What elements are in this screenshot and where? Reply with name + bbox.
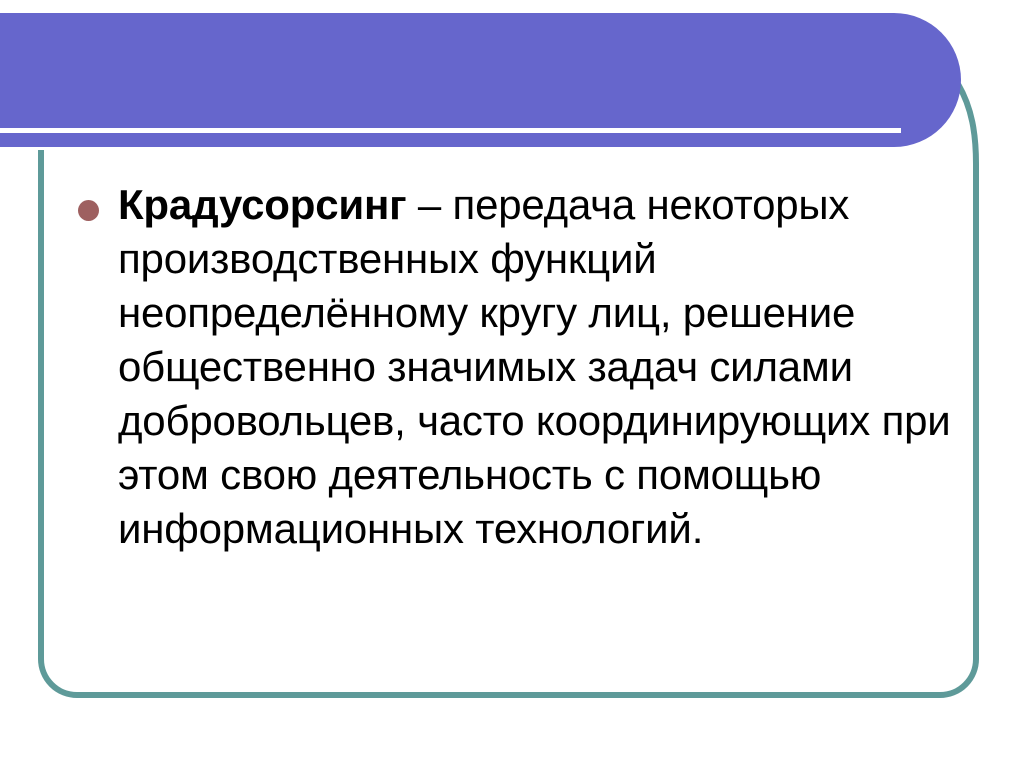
definition-body: – передача некоторых производственных фу…	[118, 181, 951, 552]
list-item: Крадусорсинг – передача некоторых произв…	[68, 178, 958, 556]
slide-canvas: Крадусорсинг – передача некоторых произв…	[0, 0, 1024, 767]
header-white-divider	[0, 128, 901, 133]
bullet-paragraph: Крадусорсинг – передача некоторых произв…	[118, 178, 958, 556]
header-blue-band	[0, 13, 961, 147]
defined-term: Крадусорсинг	[118, 181, 406, 228]
filled-circle-bullet-icon	[78, 200, 99, 221]
slide-content-body: Крадусорсинг – передача некоторых произв…	[68, 178, 958, 678]
